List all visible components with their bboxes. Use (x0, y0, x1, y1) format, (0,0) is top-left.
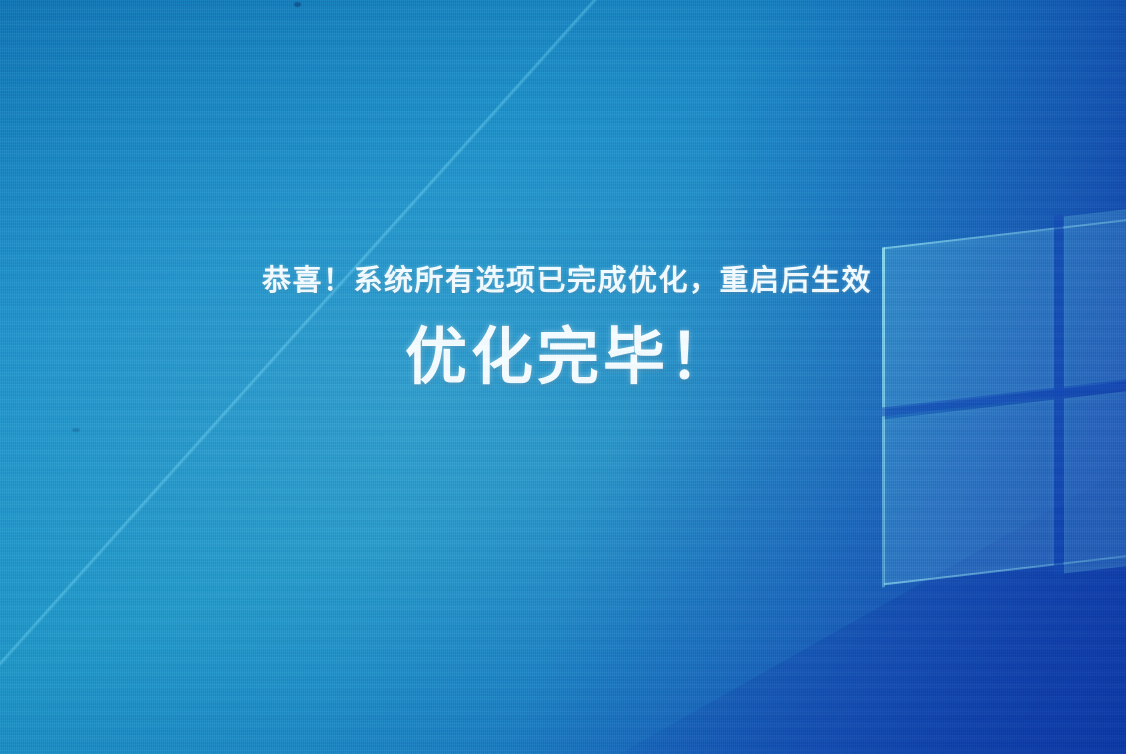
dust-speck (72, 428, 80, 432)
dust-speck (294, 2, 301, 7)
logo-pane-bottom-right (1064, 385, 1126, 574)
status-message-block: 恭喜！系统所有选项已完成优化，重启后生效 优化完毕！ (0, 262, 1126, 393)
desktop-screen: 恭喜！系统所有选项已完成优化，重启后生效 优化完毕！ (0, 0, 1126, 754)
status-subtitle: 恭喜！系统所有选项已完成优化，重启后生效 (0, 262, 1126, 298)
logo-pane-bottom-left (884, 400, 1054, 585)
status-headline: 优化完毕！ (0, 320, 1126, 393)
